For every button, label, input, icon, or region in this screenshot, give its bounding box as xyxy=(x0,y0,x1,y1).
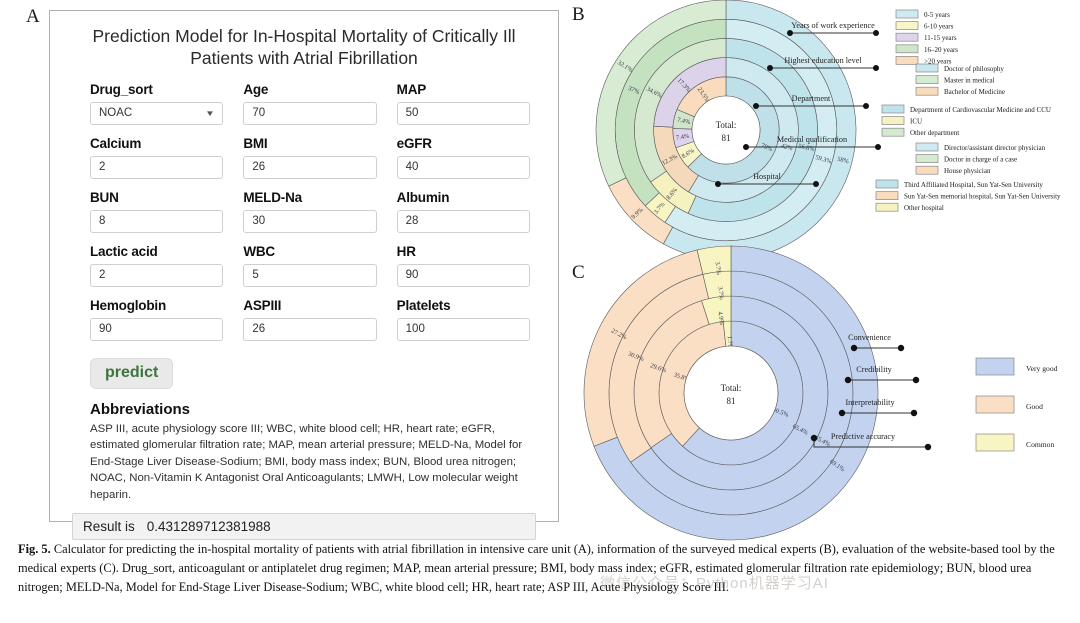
field-bmi: BMI 26 xyxy=(243,136,376,179)
field-calcium: Calcium 2 xyxy=(90,136,223,179)
input-lactic-acid[interactable]: 2 xyxy=(90,264,223,287)
legend-swatch xyxy=(896,10,918,18)
legend-swatch xyxy=(876,203,898,211)
field-egfr: eGFR 40 xyxy=(397,136,530,179)
label-hemoglobin: Hemoglobin xyxy=(90,298,223,313)
field-wbc: WBC 5 xyxy=(243,244,376,287)
label-hr: HR xyxy=(397,244,530,259)
legend-label: ICU xyxy=(910,118,922,126)
legend-label: Doctor of philosophy xyxy=(944,65,1004,73)
label-meld-na: MELD-Na xyxy=(243,190,376,205)
leader-dot xyxy=(753,103,759,109)
ring-category-label: Convenience xyxy=(848,333,891,342)
label-wbc: WBC xyxy=(243,244,376,259)
select-drug-sort-value: NOAC xyxy=(99,103,132,124)
legend-swatch xyxy=(916,64,938,72)
leader-dot xyxy=(898,345,904,351)
input-wbc[interactable]: 5 xyxy=(243,264,376,287)
input-egfr[interactable]: 40 xyxy=(397,156,530,179)
ring-category-label: Credibility xyxy=(856,365,892,374)
label-map: MAP xyxy=(397,82,530,97)
input-hr[interactable]: 90 xyxy=(397,264,530,287)
center-total-value: 81 xyxy=(727,396,736,406)
label-bmi: BMI xyxy=(243,136,376,151)
caption-prefix: Fig. 5. xyxy=(18,542,51,556)
field-map: MAP 50 xyxy=(397,82,530,125)
result-box: Result is0.431289712381988 xyxy=(72,513,536,540)
legend-swatch xyxy=(876,192,898,200)
legend-label: Director/assistant director physician xyxy=(944,144,1046,152)
ring-category-label: Years of work experience xyxy=(791,21,875,30)
input-hemoglobin[interactable]: 90 xyxy=(90,318,223,341)
label-bun: BUN xyxy=(90,190,223,205)
legend-swatch xyxy=(882,105,904,113)
sunburst-segment xyxy=(697,246,731,274)
leader-dot xyxy=(875,144,881,150)
legend-label: Other hospital xyxy=(904,204,944,212)
panel-c-sunburst-chart: 60.5%35.8%1.7%65.4%29.6%4.9%65.4%30.9%3.… xyxy=(566,258,1080,523)
label-platelets: Platelets xyxy=(397,298,530,313)
ring-category-label: Hospital xyxy=(753,172,781,181)
center-total-label: Total: xyxy=(721,383,742,393)
center-total-label: Total: xyxy=(716,120,737,130)
panel-b-svg: 79%8.6%7.4%7.4%23.5%42%12.3%17.3%56.8%8.… xyxy=(566,2,1080,258)
label-calcium: Calcium xyxy=(90,136,223,151)
leader-dot xyxy=(813,181,819,187)
legend-label: Third Affiliated Hospital, Sun Yat-Sen U… xyxy=(904,181,1043,189)
label-aspiii: ASPIII xyxy=(243,298,376,313)
predict-button[interactable]: predict xyxy=(90,358,173,389)
legend-swatch xyxy=(916,76,938,84)
ring-category-label: Department xyxy=(792,94,831,103)
legend-label: Good xyxy=(1026,402,1043,411)
field-hemoglobin: Hemoglobin 90 xyxy=(90,298,223,341)
input-bmi[interactable]: 26 xyxy=(243,156,376,179)
leader-dot xyxy=(767,65,773,71)
legend-swatch xyxy=(916,143,938,151)
legend-label: 0-5 years xyxy=(924,11,950,19)
legend-swatch xyxy=(896,33,918,41)
select-drug-sort[interactable]: NOAC ▼ xyxy=(90,102,223,125)
leader-dot xyxy=(863,103,869,109)
figure-caption: Fig. 5. Calculator for predicting the in… xyxy=(18,540,1064,597)
leader-dot xyxy=(925,444,931,450)
field-hr: HR 90 xyxy=(397,244,530,287)
legend-label: Bachelor of Medicine xyxy=(944,88,1005,96)
field-lactic-acid: Lactic acid 2 xyxy=(90,244,223,287)
input-meld-na[interactable]: 30 xyxy=(243,210,376,233)
legend-swatch xyxy=(916,166,938,174)
legend-swatch xyxy=(896,56,918,64)
field-drug-sort: Drug_sort NOAC ▼ xyxy=(90,82,223,125)
panel-b-sunburst-chart: 79%8.6%7.4%7.4%23.5%42%12.3%17.3%56.8%8.… xyxy=(566,2,1080,258)
page-title: Prediction Model for In-Hospital Mortali… xyxy=(76,25,532,70)
legend-swatch xyxy=(896,45,918,53)
input-aspiii[interactable]: 26 xyxy=(243,318,376,341)
input-calcium[interactable]: 2 xyxy=(90,156,223,179)
field-meld-na: MELD-Na 30 xyxy=(243,190,376,233)
leader-dot xyxy=(787,30,793,36)
legend-swatch xyxy=(876,180,898,188)
leader-dot xyxy=(743,144,749,150)
legend-label: Department of Cardiovascular Medicine an… xyxy=(910,106,1051,114)
legend-label: Very good xyxy=(1026,364,1058,373)
ring-category-label: Medical qualification xyxy=(777,135,847,144)
legend-label: Other department xyxy=(910,129,959,137)
legend-label: Master in medical xyxy=(944,77,995,85)
legend-label: 6-10 years xyxy=(924,23,954,31)
leader-dot xyxy=(811,435,817,441)
legend-swatch xyxy=(896,22,918,30)
legend-swatch xyxy=(976,396,1014,413)
field-platelets: Platelets 100 xyxy=(397,298,530,341)
legend-swatch xyxy=(916,87,938,95)
legend-swatch xyxy=(976,358,1014,375)
field-albumin: Albumin 28 xyxy=(397,190,530,233)
legend-label: House physician xyxy=(944,167,991,175)
ring-category-label: Predictive accuracy xyxy=(831,432,896,441)
field-bun: BUN 8 xyxy=(90,190,223,233)
input-form-grid: Drug_sort NOAC ▼ Age 70 MAP 50 Calcium 2… xyxy=(66,82,542,352)
legend-swatch xyxy=(882,117,904,125)
center-total-value: 81 xyxy=(722,133,731,143)
leader-dot xyxy=(913,377,919,383)
leader-dot xyxy=(911,410,917,416)
leader-dot xyxy=(845,377,851,383)
panel-c-svg: 60.5%35.8%1.7%65.4%29.6%4.9%65.4%30.9%3.… xyxy=(566,258,1080,523)
sunburst-center-hole xyxy=(692,96,760,164)
leader-dot xyxy=(873,65,879,71)
field-age: Age 70 xyxy=(243,82,376,125)
abbreviations-text: ASP III, acute physiology score III; WBC… xyxy=(90,421,534,504)
input-platelets[interactable]: 100 xyxy=(397,318,530,341)
leader-dot xyxy=(851,345,857,351)
caption-text: Calculator for predicting the in-hospita… xyxy=(18,542,1055,594)
ring-category-label: Interpretability xyxy=(845,398,895,407)
legend-label: Sun Yat-Sen memorial hospital, Sun Yat-S… xyxy=(904,193,1061,201)
legend-swatch xyxy=(882,128,904,136)
label-albumin: Albumin xyxy=(397,190,530,205)
input-age[interactable]: 70 xyxy=(243,102,376,125)
legend-swatch xyxy=(976,434,1014,451)
chevron-down-icon: ▼ xyxy=(205,103,215,124)
abbreviations-heading: Abbreviations xyxy=(90,401,542,418)
result-value: 0.431289712381988 xyxy=(147,519,271,534)
result-label: Result is xyxy=(83,519,135,534)
leader-dot xyxy=(873,30,879,36)
input-albumin[interactable]: 28 xyxy=(397,210,530,233)
input-map[interactable]: 50 xyxy=(397,102,530,125)
input-bun[interactable]: 8 xyxy=(90,210,223,233)
field-aspiii: ASPIII 26 xyxy=(243,298,376,341)
legend-swatch xyxy=(916,155,938,163)
legend-label: 16–20 years xyxy=(924,46,958,54)
legend-label: 11-15 years xyxy=(924,34,957,42)
legend-label: Common xyxy=(1026,440,1054,449)
sunburst-center-hole xyxy=(684,346,778,440)
label-lactic-acid: Lactic acid xyxy=(90,244,223,259)
label-egfr: eGFR xyxy=(397,136,530,151)
label-age: Age xyxy=(243,82,376,97)
leader-dot xyxy=(839,410,845,416)
ring-category-label: Highest education level xyxy=(784,56,862,65)
leader-dot xyxy=(715,181,721,187)
panel-letter-a: A xyxy=(26,6,40,28)
calculator-panel: Prediction Model for In-Hospital Mortali… xyxy=(49,10,559,522)
legend-label: Doctor in charge of a case xyxy=(944,156,1017,164)
label-drug-sort: Drug_sort xyxy=(90,82,223,97)
